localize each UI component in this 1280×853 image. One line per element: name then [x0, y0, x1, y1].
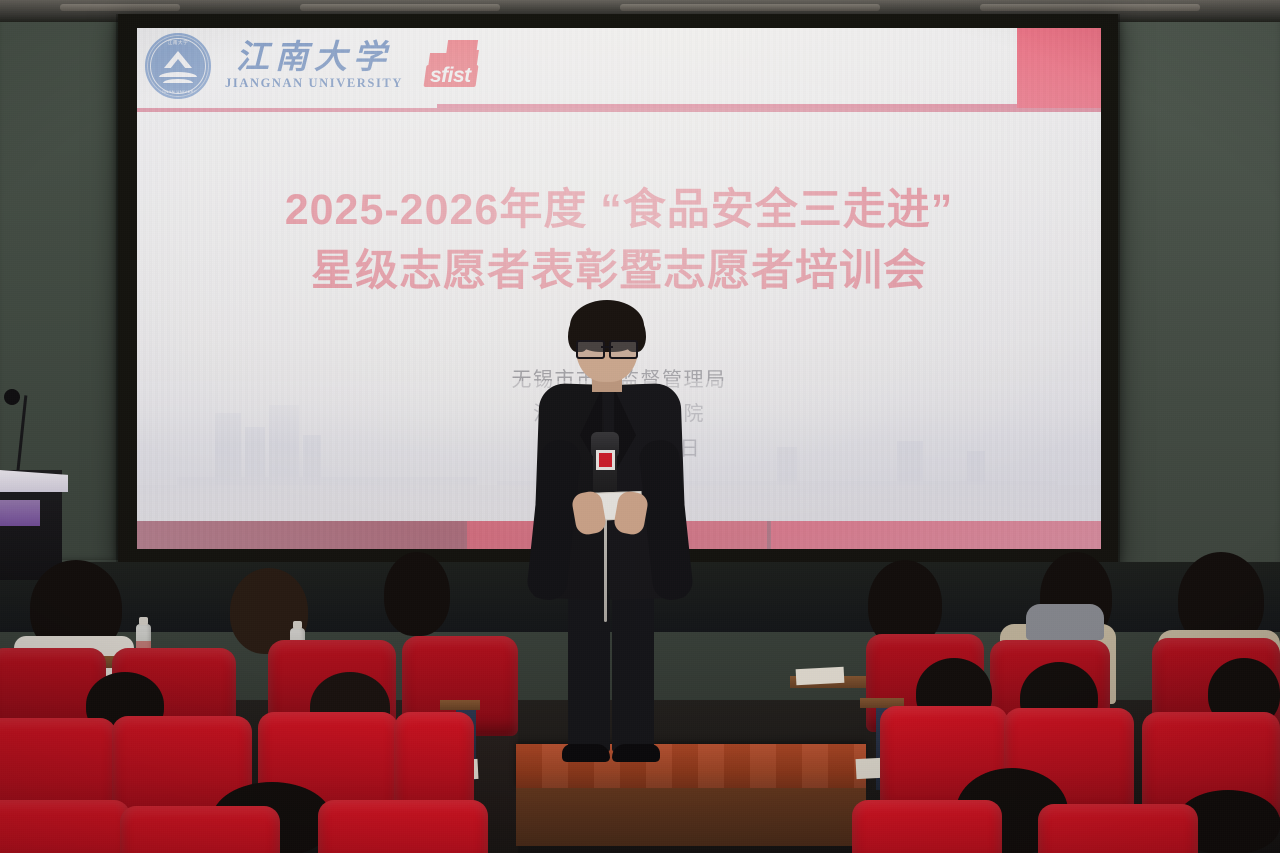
podium-microphone-icon [4, 389, 20, 405]
ceiling-light-strip [980, 4, 1200, 11]
auditorium-seat [852, 800, 1002, 853]
corner-accent-block [1017, 28, 1101, 108]
auditorium-seat [318, 800, 488, 853]
ceiling-light-strip [60, 4, 180, 11]
auditorium-seat [0, 800, 130, 853]
wall-panel-right [1118, 0, 1280, 575]
slide-branding: 江南大学 JIANGNAN UNIVERSITY 江南大学 JIANGNAN U… [145, 33, 495, 99]
ceiling-light-strip [300, 4, 500, 11]
slide-title: 2025-2026年度 “食品安全三走进” 星级志愿者表彰暨志愿者培训会 [137, 180, 1101, 302]
header-underline [137, 108, 1101, 112]
auditorium-seat [1038, 804, 1198, 853]
title-line-1: 2025-2026年度 “食品安全三走进” [137, 180, 1101, 241]
seal-text-bottom: JIANGNAN UNIVERSITY [147, 89, 209, 94]
speaker-person [520, 300, 700, 770]
sfist-logo-text: sfist [430, 64, 471, 88]
podium-screen-glow [0, 500, 40, 526]
speaker-shoe-right [612, 744, 660, 762]
speaker-shoe-left [562, 744, 610, 762]
microphone-flag-logo-icon [599, 453, 612, 467]
auditorium-seat [120, 806, 280, 853]
wall-seam [1118, 14, 1120, 574]
ceiling-light-strip [620, 4, 880, 11]
university-name-en: JIANGNAN UNIVERSITY [225, 76, 403, 91]
university-name-cn: 江南大学 [236, 41, 392, 76]
stage-platform-face [516, 788, 866, 846]
seal-text-top: 江南大学 [147, 40, 209, 46]
speaker-glasses-icon [576, 340, 638, 355]
audience-head [384, 552, 450, 636]
photo-canvas: 江南大学 JIANGNAN UNIVERSITY 江南大学 JIANGNAN U… [0, 0, 1280, 853]
university-seal-icon: 江南大学 JIANGNAN UNIVERSITY [145, 33, 211, 99]
slide-footer-accent [771, 521, 1101, 549]
university-wordmark: 江南大学 JIANGNAN UNIVERSITY [225, 41, 403, 92]
title-line-2: 星级志愿者表彰暨志愿者培训会 [137, 241, 1101, 302]
speaker-leg-right [612, 592, 654, 752]
desk [440, 700, 480, 710]
handout-paper [796, 667, 845, 685]
audience-scarf [1026, 604, 1104, 640]
sfist-logo-icon: sfist [421, 38, 495, 94]
